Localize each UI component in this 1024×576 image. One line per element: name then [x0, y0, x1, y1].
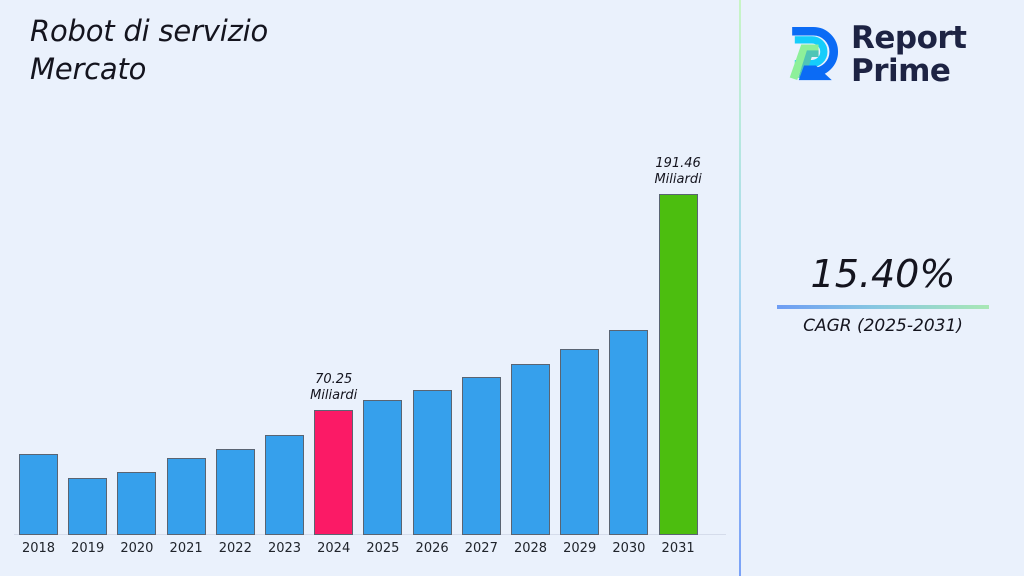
report-prime-logo: Report Prime — [775, 14, 1005, 96]
bar-2028 — [511, 364, 550, 535]
bar-chart-plot-area: 2018201920202021202220232024202520262027… — [0, 0, 740, 576]
bar-2027 — [462, 377, 501, 535]
bar-2023 — [265, 435, 304, 535]
cagr-value: 15.40% — [761, 252, 1005, 296]
bar-2019 — [68, 478, 107, 535]
report-prime-mark-icon — [775, 22, 841, 88]
bar-2029 — [560, 349, 599, 535]
bar-2031 — [659, 194, 698, 535]
bar-label-2031: 191.46 Miliardi — [623, 156, 733, 188]
chart-panel: Robot di servizio Mercato 20182019202020… — [0, 0, 740, 576]
sidebar: Report Prime 15.40% CAGR (2025-2031) — [741, 0, 1024, 576]
logo-wordmark: Report Prime — [851, 22, 967, 88]
bar-2030 — [609, 330, 648, 535]
cagr-block: 15.40% CAGR (2025-2031) — [761, 252, 1005, 337]
bar-2020 — [117, 472, 156, 535]
x-tick-2031: 2031 — [648, 541, 708, 556]
bar-2026 — [413, 390, 452, 535]
bar-2018 — [19, 454, 58, 535]
bar-2021 — [167, 458, 206, 535]
bar-2024 — [314, 410, 353, 535]
chart-page: Robot di servizio Mercato 20182019202020… — [0, 0, 1024, 576]
bar-label-2024: 70.25 Miliardi — [279, 372, 389, 404]
cagr-divider-rule — [777, 305, 989, 309]
bar-2022 — [216, 449, 255, 535]
cagr-caption: CAGR (2025-2031) — [761, 315, 1005, 337]
bar-2025 — [363, 400, 402, 535]
